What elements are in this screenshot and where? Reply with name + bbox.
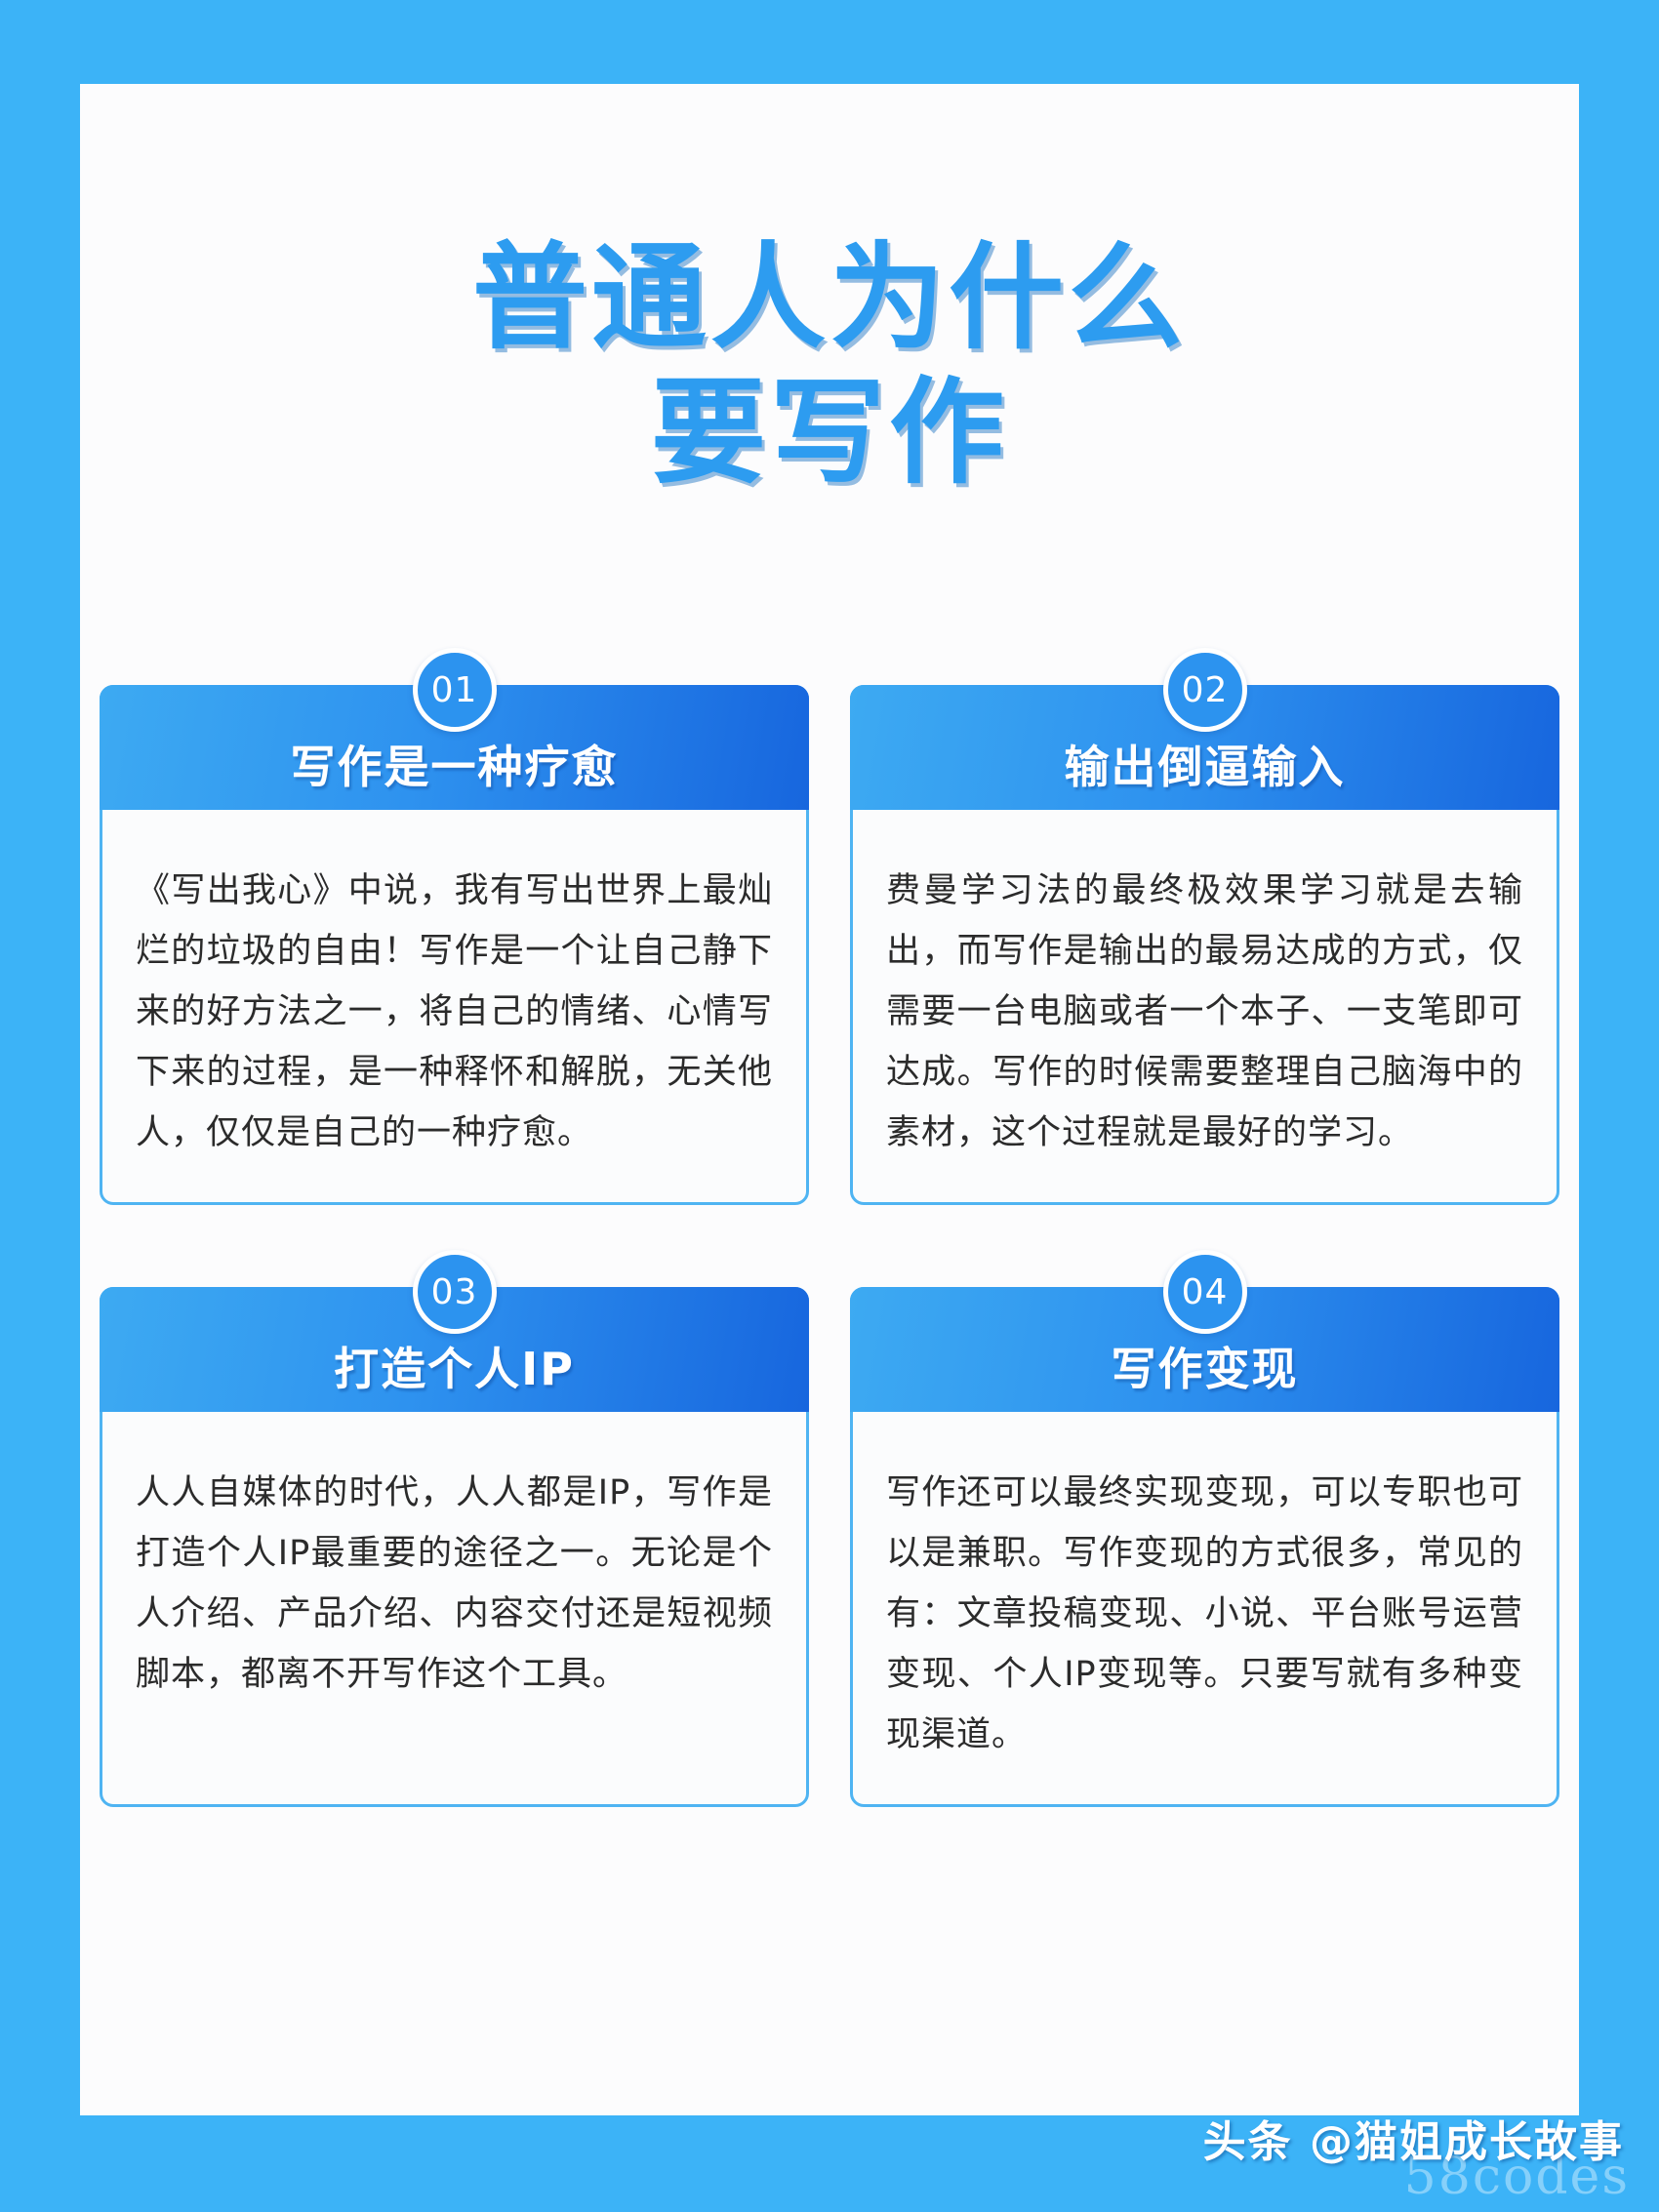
- card-title-03: 打造个人IP: [334, 1344, 575, 1394]
- card-header-02: 02 输出倒逼输入: [850, 685, 1559, 810]
- card-text-03: 人人自媒体的时代，人人都是IP，写作是打造个人IP最重要的途径之一。无论是个人介…: [136, 1463, 773, 1705]
- card-body-04: 写作还可以最终实现变现，可以专职也可以是兼职。写作变现的方式很多，常见的有：文章…: [853, 1412, 1557, 1804]
- card-04[interactable]: 04 写作变现 写作还可以最终实现变现，可以专职也可以是兼职。写作变现的方式很多…: [850, 1287, 1559, 1807]
- number-badge-02: 02: [1163, 648, 1247, 732]
- badge-number-02: 02: [1182, 670, 1229, 710]
- card-header-01: 01 写作是一种疗愈: [100, 685, 809, 810]
- poster-root: 普通人为什么 要写作 01 写作是一种疗愈 《写出我心》中说，我有写出世界上最灿…: [0, 0, 1659, 2212]
- card-01[interactable]: 01 写作是一种疗愈 《写出我心》中说，我有写出世界上最灿烂的垃圾的自由！写作是…: [100, 685, 809, 1205]
- badge-number-01: 01: [431, 670, 478, 710]
- card-body-02: 费曼学习法的最终极效果学习就是去输出，而写作是输出的最易达成的方式，仅需要一台电…: [853, 810, 1557, 1202]
- number-badge-04: 04: [1163, 1250, 1247, 1334]
- content-panel: 普通人为什么 要写作 01 写作是一种疗愈 《写出我心》中说，我有写出世界上最灿…: [80, 84, 1579, 2115]
- title-line-2: 要写作: [80, 365, 1579, 500]
- card-title-02: 输出倒逼输入: [1065, 742, 1346, 792]
- watermark-label: 头条 @猫姐成长故事: [1203, 2107, 1624, 2169]
- card-body-01: 《写出我心》中说，我有写出世界上最灿烂的垃圾的自由！写作是一个让自己静下来的好方…: [102, 810, 806, 1202]
- number-badge-01: 01: [413, 648, 497, 732]
- badge-number-03: 03: [431, 1272, 478, 1312]
- badge-number-04: 04: [1182, 1272, 1229, 1312]
- number-badge-03: 03: [413, 1250, 497, 1334]
- card-title-01: 写作是一种疗愈: [291, 742, 619, 792]
- card-title-04: 写作变现: [1112, 1344, 1299, 1394]
- card-wrapper-03: 03 打造个人IP 人人自媒体的时代，人人都是IP，写作是打造个人IP最重要的途…: [100, 1252, 809, 1807]
- card-wrapper-01: 01 写作是一种疗愈 《写出我心》中说，我有写出世界上最灿烂的垃圾的自由！写作是…: [100, 650, 809, 1205]
- card-header-03: 03 打造个人IP: [100, 1287, 809, 1412]
- card-header-04: 04 写作变现: [850, 1287, 1559, 1412]
- card-body-03: 人人自媒体的时代，人人都是IP，写作是打造个人IP最重要的途径之一。无论是个人介…: [102, 1412, 806, 1744]
- card-wrapper-02: 02 输出倒逼输入 费曼学习法的最终极效果学习就是去输出，而写作是输出的最易达成…: [850, 650, 1559, 1205]
- card-wrapper-04: 04 写作变现 写作还可以最终实现变现，可以专职也可以是兼职。写作变现的方式很多…: [850, 1252, 1559, 1807]
- card-text-04: 写作还可以最终实现变现，可以专职也可以是兼职。写作变现的方式很多，常见的有：文章…: [886, 1463, 1523, 1765]
- title-line-1: 普通人为什么: [80, 230, 1579, 365]
- card-text-02: 费曼学习法的最终极效果学习就是去输出，而写作是输出的最易达成的方式，仅需要一台电…: [886, 861, 1523, 1163]
- page-title: 普通人为什么 要写作: [80, 230, 1579, 500]
- card-grid: 01 写作是一种疗愈 《写出我心》中说，我有写出世界上最灿烂的垃圾的自由！写作是…: [80, 650, 1579, 1807]
- card-02[interactable]: 02 输出倒逼输入 费曼学习法的最终极效果学习就是去输出，而写作是输出的最易达成…: [850, 685, 1559, 1205]
- card-03[interactable]: 03 打造个人IP 人人自媒体的时代，人人都是IP，写作是打造个人IP最重要的途…: [100, 1287, 809, 1807]
- card-text-01: 《写出我心》中说，我有写出世界上最灿烂的垃圾的自由！写作是一个让自己静下来的好方…: [136, 861, 773, 1163]
